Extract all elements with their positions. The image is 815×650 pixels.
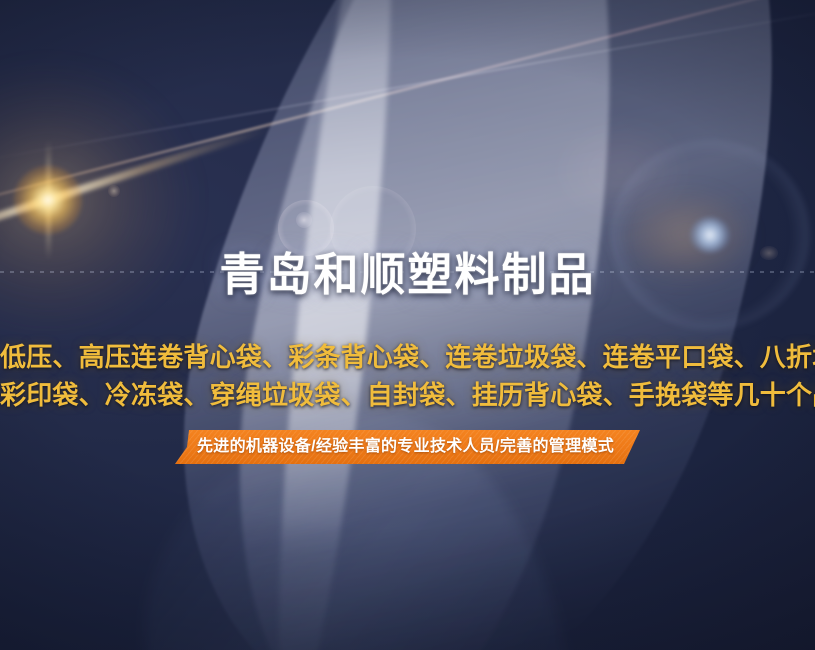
product-list-line-2: 彩印袋、冷冻袋、穿绳垃圾袋、自封袋、挂历背心袋、手挽袋等几十个品种	[0, 377, 815, 413]
tagline-label: 先进的机器设备/经验丰富的专业技术人员/完善的管理模式	[197, 438, 614, 455]
promo-banner: 青岛和顺塑料制品 低压、高压连卷背心袋、彩条背心袋、连卷垃圾袋、连卷平口袋、八折…	[0, 0, 815, 650]
tagline-container: 先进的机器设备/经验丰富的专业技术人员/完善的管理模式	[0, 430, 815, 464]
page-title: 青岛和顺塑料制品	[0, 247, 815, 303]
tagline-badge: 先进的机器设备/经验丰富的专业技术人员/完善的管理模式	[175, 430, 640, 464]
banner-content: 青岛和顺塑料制品 低压、高压连卷背心袋、彩条背心袋、连卷垃圾袋、连卷平口袋、八折…	[0, 0, 815, 650]
product-list-line-1: 低压、高压连卷背心袋、彩条背心袋、连卷垃圾袋、连卷平口袋、八折垃圾袋、	[0, 339, 815, 375]
